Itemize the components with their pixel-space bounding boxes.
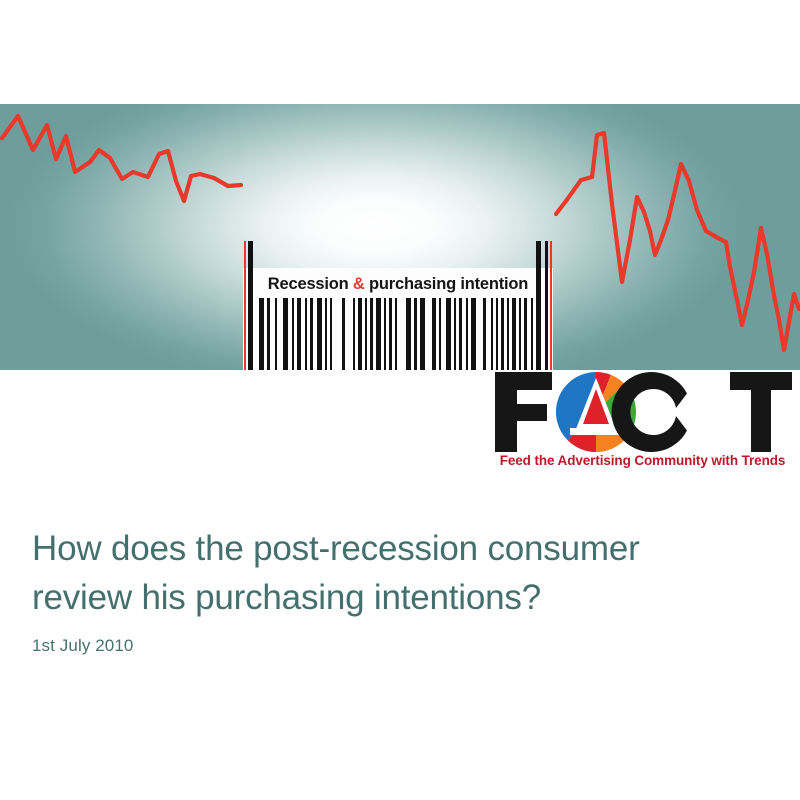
barcode-guard-left <box>248 241 253 370</box>
page-title-line-1: How does the post-recession consumer <box>32 524 762 573</box>
barcode-guard-right-thin <box>545 241 548 370</box>
page-title: How does the post-recession consumer rev… <box>32 524 762 622</box>
barcode-guard-right <box>536 241 541 370</box>
barcode-title-suffix: purchasing intention <box>365 275 529 293</box>
trend-line-right <box>556 133 799 350</box>
fact-tagline: Feed the Advertising Community with Tren… <box>493 453 792 468</box>
hero-banner: Recession & purchasing intention <box>0 104 800 370</box>
presentation-date: 1st July 2010 <box>32 636 762 656</box>
trend-line-left <box>2 116 241 201</box>
barcode-title-ampersand: & <box>353 275 365 293</box>
barcode-left-edge-line <box>244 241 246 370</box>
page-title-line-2: review his purchasing intentions? <box>32 573 762 622</box>
fact-wordmark <box>490 368 792 456</box>
fact-letter-f-icon <box>495 372 552 452</box>
barcode-title-prefix: Recession <box>268 275 353 293</box>
title-block: How does the post-recession consumer rev… <box>32 524 762 656</box>
barcode-title: Recession & purchasing intention <box>243 271 553 297</box>
barcode-graphic: Recession & purchasing intention <box>243 268 553 370</box>
fact-logo: Feed the Advertising Community with Tren… <box>490 368 792 480</box>
barcode-bars <box>243 298 553 370</box>
barcode-right-edge-line <box>550 241 552 370</box>
